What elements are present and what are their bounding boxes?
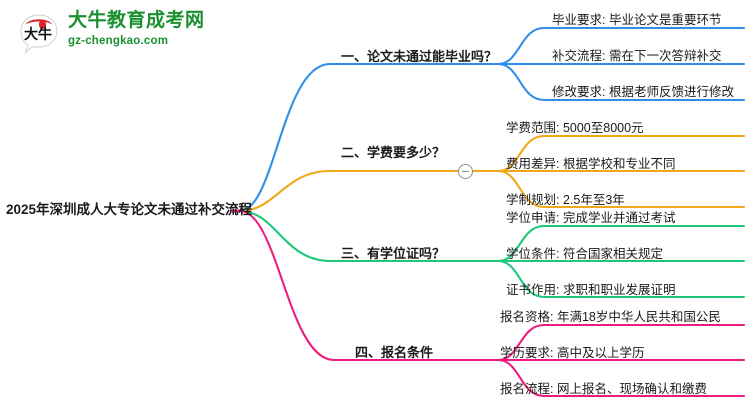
branch-node-4[interactable]: 四、报名条件 bbox=[355, 346, 433, 359]
leaf-node-3-1[interactable]: 学位申请: 完成学业并通过考试 bbox=[506, 212, 675, 225]
leaf-node-4-1[interactable]: 报名资格: 年满18岁中华人民共和国公民 bbox=[500, 311, 721, 324]
root-node[interactable]: 2025年深圳成人大专论文未通过补交流程 bbox=[6, 203, 252, 217]
leaf-node-3-3[interactable]: 证书作用: 求职和职业发展证明 bbox=[506, 284, 675, 297]
branch-node-3[interactable]: 三、有学位证吗？ bbox=[341, 247, 445, 260]
leaf-node-1-2[interactable]: 补交流程: 需在下一次答辩补交 bbox=[552, 50, 721, 63]
leaf-node-2-1[interactable]: 学费范围: 5000至8000元 bbox=[506, 122, 644, 135]
leaf-node-2-2[interactable]: 费用差异: 根据学校和专业不同 bbox=[506, 158, 675, 171]
leaf-node-3-2[interactable]: 学位条件: 符合国家相关规定 bbox=[506, 248, 663, 261]
mindmap-canvas: 大牛 大牛教育成考网 gz-chengkao.com bbox=[0, 0, 750, 410]
leaf-node-1-1[interactable]: 毕业要求: 毕业论文是重要环节 bbox=[552, 14, 721, 27]
leaf-node-4-2[interactable]: 学历要求: 高中及以上学历 bbox=[500, 347, 644, 360]
branch-node-2[interactable]: 二、学费要多少？ bbox=[341, 146, 445, 159]
branch-node-1[interactable]: 一、论文未通过能毕业吗？ bbox=[341, 50, 497, 63]
collapse-toggle-icon-branch-2[interactable] bbox=[458, 164, 473, 179]
leaf-node-4-3[interactable]: 报名流程: 网上报名、现场确认和缴费 bbox=[500, 383, 707, 396]
leaf-node-1-3[interactable]: 修改要求: 根据老师反馈进行修改 bbox=[552, 86, 734, 99]
leaf-node-2-3[interactable]: 学制规划: 2.5年至3年 bbox=[506, 194, 625, 207]
